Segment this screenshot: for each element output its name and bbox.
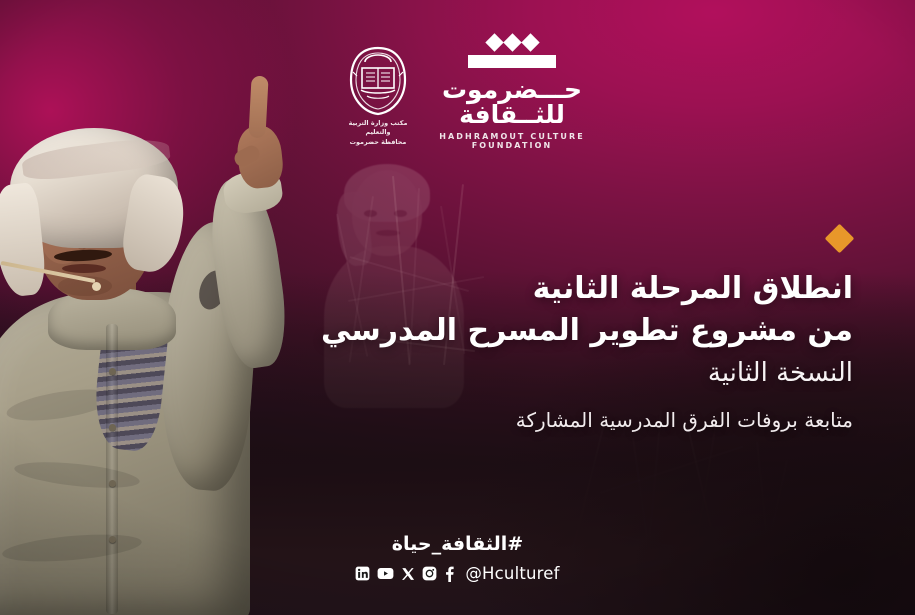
foundation-english-name: HADHRAMOUT CULTURE FOUNDATION [424, 132, 600, 150]
headline-line-3: النسخة الثانية [233, 355, 853, 391]
youtube-icon[interactable] [377, 566, 394, 581]
social-row: @Hculturef [0, 564, 915, 583]
social-handle[interactable]: @Hculturef [465, 564, 559, 583]
foundation-diamonds-icon [424, 36, 600, 49]
ministry-caption-line1: مكتب وزارة التربية والتعليم [336, 119, 420, 138]
logo-bar: مكتب وزارة التربية والتعليم محافظة حضرمو… [0, 0, 915, 140]
ministry-caption-line2: محافظة حضرموت [336, 138, 420, 147]
facebook-icon[interactable] [444, 566, 455, 582]
poster-canvas: مكتب وزارة التربية والتعليم محافظة حضرمو… [0, 0, 915, 615]
ministry-caption: مكتب وزارة التربية والتعليم محافظة حضرمو… [336, 119, 420, 147]
foundation-bar-icon [468, 55, 556, 68]
headline-line-2: من مشروع تطوير المسرح المدرسي [233, 311, 853, 351]
ministry-of-education-logo: مكتب وزارة التربية والتعليم محافظة حضرمو… [336, 46, 420, 147]
footer-block: #الثقافة_حياة [0, 533, 915, 583]
x-twitter-icon[interactable] [401, 567, 415, 581]
foundation-arabic-name: حـــضرموت للثــقافة [424, 77, 600, 127]
hadhramout-culture-foundation-logo: حـــضرموت للثــقافة HADHRAMOUT CULTURE F… [424, 36, 600, 150]
headline-block: انطلاق المرحلة الثانية من مشروع تطوير ال… [233, 228, 853, 435]
headline-line-1: انطلاق المرحلة الثانية [233, 269, 853, 309]
ministry-emblem-icon [347, 46, 409, 116]
instagram-icon[interactable] [422, 566, 437, 581]
hashtag: #الثقافة_حياة [0, 533, 915, 555]
headline-line-4: متابعة بروفات الفرق المدرسية المشاركة [233, 405, 853, 435]
diamond-accent-icon [825, 224, 855, 254]
linkedin-icon[interactable] [355, 566, 370, 581]
